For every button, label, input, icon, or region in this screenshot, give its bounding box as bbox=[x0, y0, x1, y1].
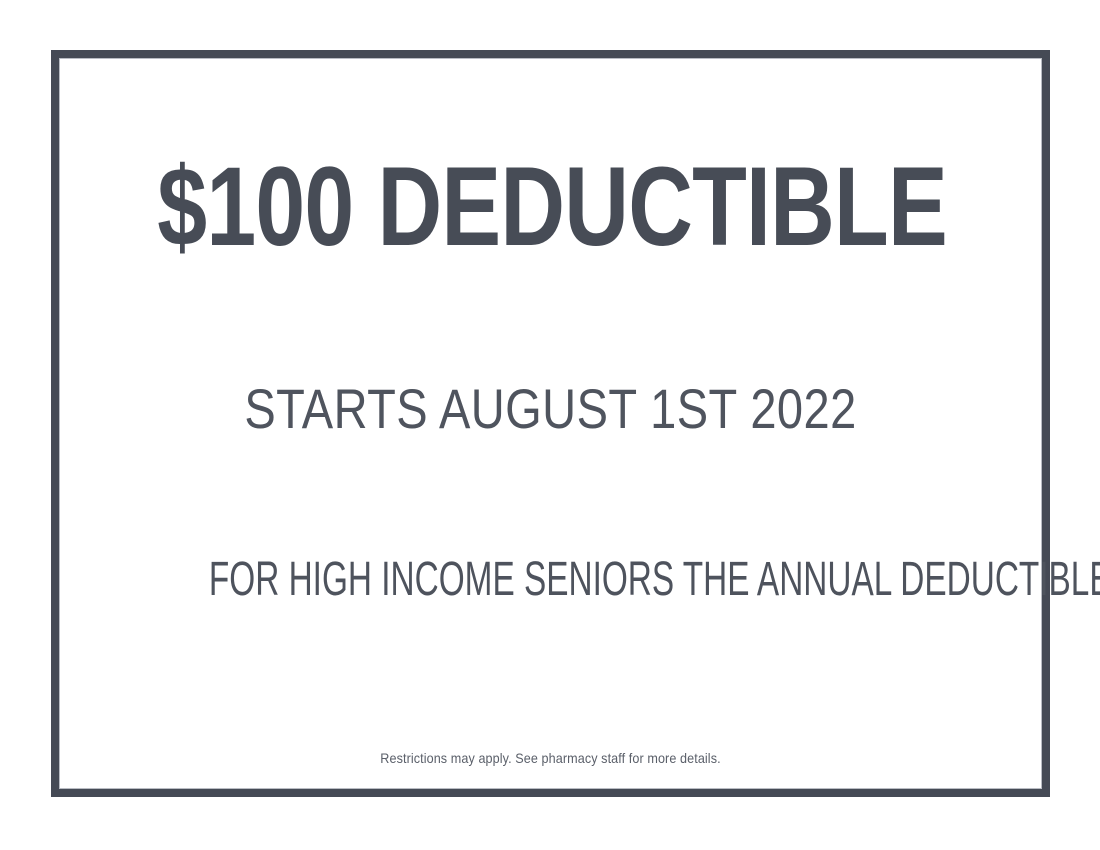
sign-content: $100 DEDUCTIBLE STARTS AUGUST 1ST 2022 F… bbox=[59, 58, 1042, 789]
fine-print-disclaimer: Restrictions may apply. See pharmacy sta… bbox=[108, 750, 993, 767]
subtitle-start-date: STARTS AUGUST 1ST 2022 bbox=[138, 378, 964, 440]
body-eligibility-statement: FOR HIGH INCOME SENIORS THE ANNUAL DEDUC… bbox=[209, 554, 892, 607]
pharmacy-deductible-sign: $100 DEDUCTIBLE STARTS AUGUST 1ST 2022 F… bbox=[0, 0, 1100, 850]
headline-deductible-amount: $100 DEDUCTIBLE bbox=[157, 150, 943, 264]
sign-border-frame: $100 DEDUCTIBLE STARTS AUGUST 1ST 2022 F… bbox=[51, 50, 1050, 797]
